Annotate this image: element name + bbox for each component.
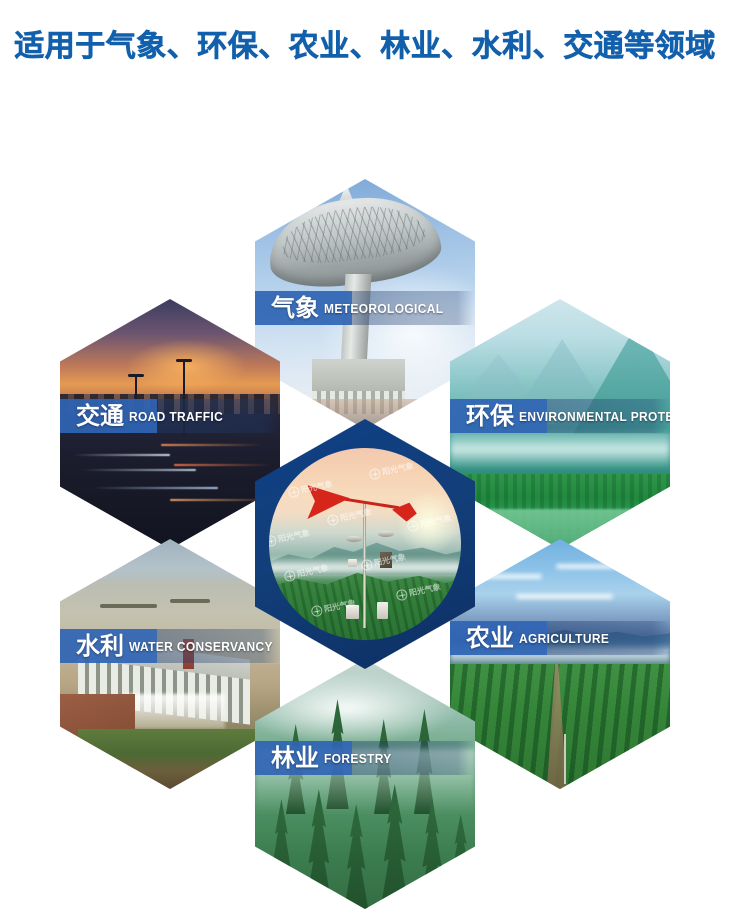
light-trail bbox=[91, 487, 219, 489]
hex-label-en: AGRICULTURE bbox=[519, 632, 609, 645]
cloud bbox=[516, 594, 613, 599]
hex-label-en: FORESTRY bbox=[324, 752, 392, 765]
hex-label-agriculture: 农业 AGRICULTURE bbox=[450, 621, 670, 655]
cloud bbox=[556, 564, 618, 569]
watermark-logo-icon bbox=[269, 535, 278, 548]
hex-label-cn: 交通 bbox=[76, 404, 124, 428]
light-trail bbox=[174, 464, 271, 466]
hex-label-meteorological: 气象 METEOROLOGICAL bbox=[255, 291, 475, 325]
watermark: 阳光气象 bbox=[269, 528, 311, 548]
agriculture-photo bbox=[450, 539, 670, 789]
solar-panel-icon bbox=[380, 552, 392, 568]
page-title: 适用于气象、环保、农业、林业、水利、交通等领域 bbox=[14, 21, 716, 65]
sunset-glow bbox=[126, 339, 247, 394]
hex-cell-forestry[interactable]: 林业 FORESTRY bbox=[255, 659, 475, 909]
light-trail bbox=[161, 444, 262, 446]
anemometer-cup-icon bbox=[346, 536, 362, 542]
hex-label-en: METEOROLOGICAL bbox=[324, 302, 443, 315]
weather-station-photo: 阳光气象 阳光气象 阳光气象 阳光气象 阳光气象 阳光气象 阳光气象 阳光气象 … bbox=[269, 448, 461, 640]
station-mast-icon bbox=[363, 502, 366, 629]
hex-label-cn: 气象 bbox=[271, 296, 319, 320]
hex-cell-center-weather-station[interactable]: 阳光气象 阳光气象 阳光气象 阳光气象 阳光气象 阳光气象 阳光气象 阳光气象 … bbox=[255, 419, 475, 669]
watermark: 阳光气象 bbox=[368, 461, 414, 481]
watermark-text: 阳光气象 bbox=[339, 507, 373, 524]
hex-label-en: ENVIRONMENTAL PROTECTION bbox=[519, 410, 670, 423]
hex-label-water: 水利 WATER CONSERVANCY bbox=[60, 629, 280, 663]
honeycomb-diagram: 气象 METEOROLOGICAL 交通 ROAD TRAFFIC bbox=[0, 86, 730, 816]
cloud bbox=[468, 574, 543, 579]
conifer-tree-icon bbox=[339, 804, 374, 909]
conifer-tree-icon bbox=[444, 814, 475, 909]
water-photo bbox=[60, 539, 280, 789]
light-trail bbox=[82, 469, 196, 471]
hex-label-forestry: 林业 FORESTRY bbox=[255, 741, 475, 775]
battery-cabinet-icon bbox=[377, 602, 388, 619]
hex-label-cn: 林业 bbox=[271, 746, 319, 770]
watermark-logo-icon bbox=[368, 468, 381, 481]
watermark-logo-icon bbox=[288, 485, 301, 498]
watermark-logo-icon bbox=[326, 514, 339, 527]
watermark-text: 阳光气象 bbox=[381, 461, 415, 478]
data-logger-cabinet-icon bbox=[346, 605, 359, 619]
hex-cell-traffic[interactable]: 交通 ROAD TRAFFIC bbox=[60, 299, 280, 549]
wind-vane-tail-icon bbox=[307, 479, 349, 519]
valley-mist bbox=[450, 429, 670, 469]
hex-label-environment: 环保 ENVIRONMENTAL PROTECTION bbox=[450, 399, 670, 433]
barge bbox=[100, 604, 157, 608]
hex-label-en: WATER CONSERVANCY bbox=[129, 640, 273, 653]
light-trail bbox=[73, 454, 170, 456]
hex-cell-meteorological[interactable]: 气象 METEOROLOGICAL bbox=[255, 179, 475, 429]
hex-label-cn: 农业 bbox=[466, 626, 514, 650]
trellis-post bbox=[564, 734, 566, 784]
highway-surface bbox=[60, 414, 280, 549]
hex-label-cn: 环保 bbox=[466, 404, 514, 428]
sensor-box-icon bbox=[348, 559, 357, 567]
spillway-water bbox=[126, 694, 225, 729]
page-title-bar: 适用于气象、环保、农业、林业、水利、交通等领域 bbox=[0, 0, 730, 86]
barge bbox=[170, 599, 210, 603]
hex-label-traffic: 交通 ROAD TRAFFIC bbox=[60, 399, 280, 433]
sun-glow bbox=[396, 490, 461, 555]
hex-cell-water[interactable]: 水利 WATER CONSERVANCY bbox=[60, 539, 280, 789]
radiation-shield-icon bbox=[378, 531, 394, 537]
hex-label-en: ROAD TRAFFIC bbox=[129, 410, 223, 423]
forestry-photo bbox=[255, 659, 475, 909]
watermark-text: 阳光气象 bbox=[277, 528, 311, 545]
hex-label-cn: 水利 bbox=[76, 634, 124, 658]
hex-cell-agriculture[interactable]: 农业 AGRICULTURE bbox=[450, 539, 670, 789]
riverbank-vegetation bbox=[78, 729, 280, 789]
hex-cell-environment[interactable]: 环保 ENVIRONMENTAL PROTECTION bbox=[450, 299, 670, 549]
center-photo-circle: 阳光气象 阳光气象 阳光气象 阳光气象 阳光气象 阳光气象 阳光气象 阳光气象 … bbox=[269, 448, 461, 640]
